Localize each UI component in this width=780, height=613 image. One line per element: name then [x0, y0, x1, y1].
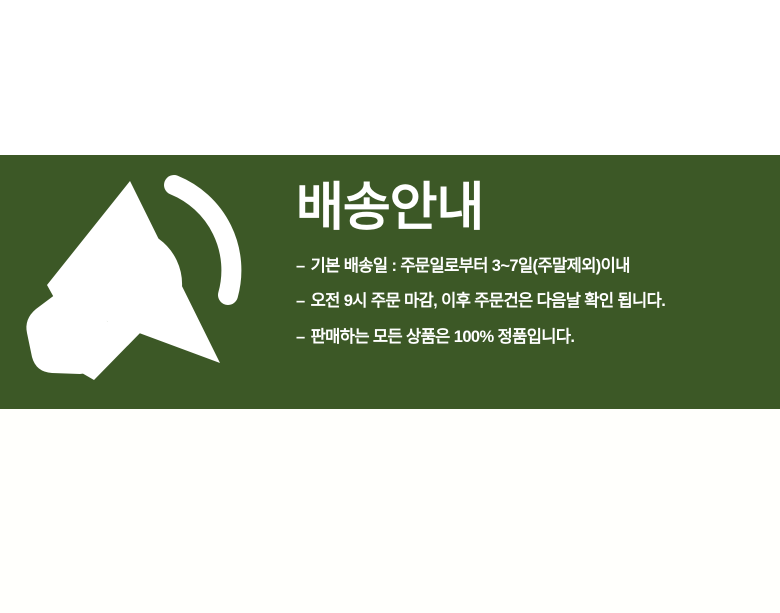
- notice-text-column: 배송안내 – 기본 배송일 : 주문일로부터 3~7일(주말제외)이내 – 오전…: [296, 181, 766, 345]
- bottom-whitespace: [0, 409, 780, 613]
- bullet-dash-icon: –: [296, 329, 305, 346]
- notice-item: – 판매하는 모든 상품은 100% 정품입니다.: [296, 329, 766, 346]
- delivery-notice-banner: 배송안내 – 기본 배송일 : 주문일로부터 3~7일(주말제외)이내 – 오전…: [0, 0, 780, 613]
- notice-item: – 기본 배송일 : 주문일로부터 3~7일(주말제외)이내: [296, 258, 766, 275]
- notice-title: 배송안내: [296, 181, 766, 236]
- notice-item: – 오전 9시 주문 마감, 이후 주문건은 다음날 확인 됩니다.: [296, 293, 766, 310]
- megaphone-icon: [24, 173, 264, 388]
- bullet-dash-icon: –: [296, 258, 305, 275]
- notice-item-text: 판매하는 모든 상품은 100% 정품입니다.: [311, 329, 575, 346]
- notice-band: 배송안내 – 기본 배송일 : 주문일로부터 3~7일(주말제외)이내 – 오전…: [0, 155, 780, 409]
- top-whitespace: [0, 0, 780, 155]
- notice-item-text: 오전 9시 주문 마감, 이후 주문건은 다음날 확인 됩니다.: [311, 293, 666, 310]
- bullet-dash-icon: –: [296, 293, 305, 310]
- notice-item-list: – 기본 배송일 : 주문일로부터 3~7일(주말제외)이내 – 오전 9시 주…: [296, 258, 766, 346]
- notice-item-text: 기본 배송일 : 주문일로부터 3~7일(주말제외)이내: [311, 258, 630, 275]
